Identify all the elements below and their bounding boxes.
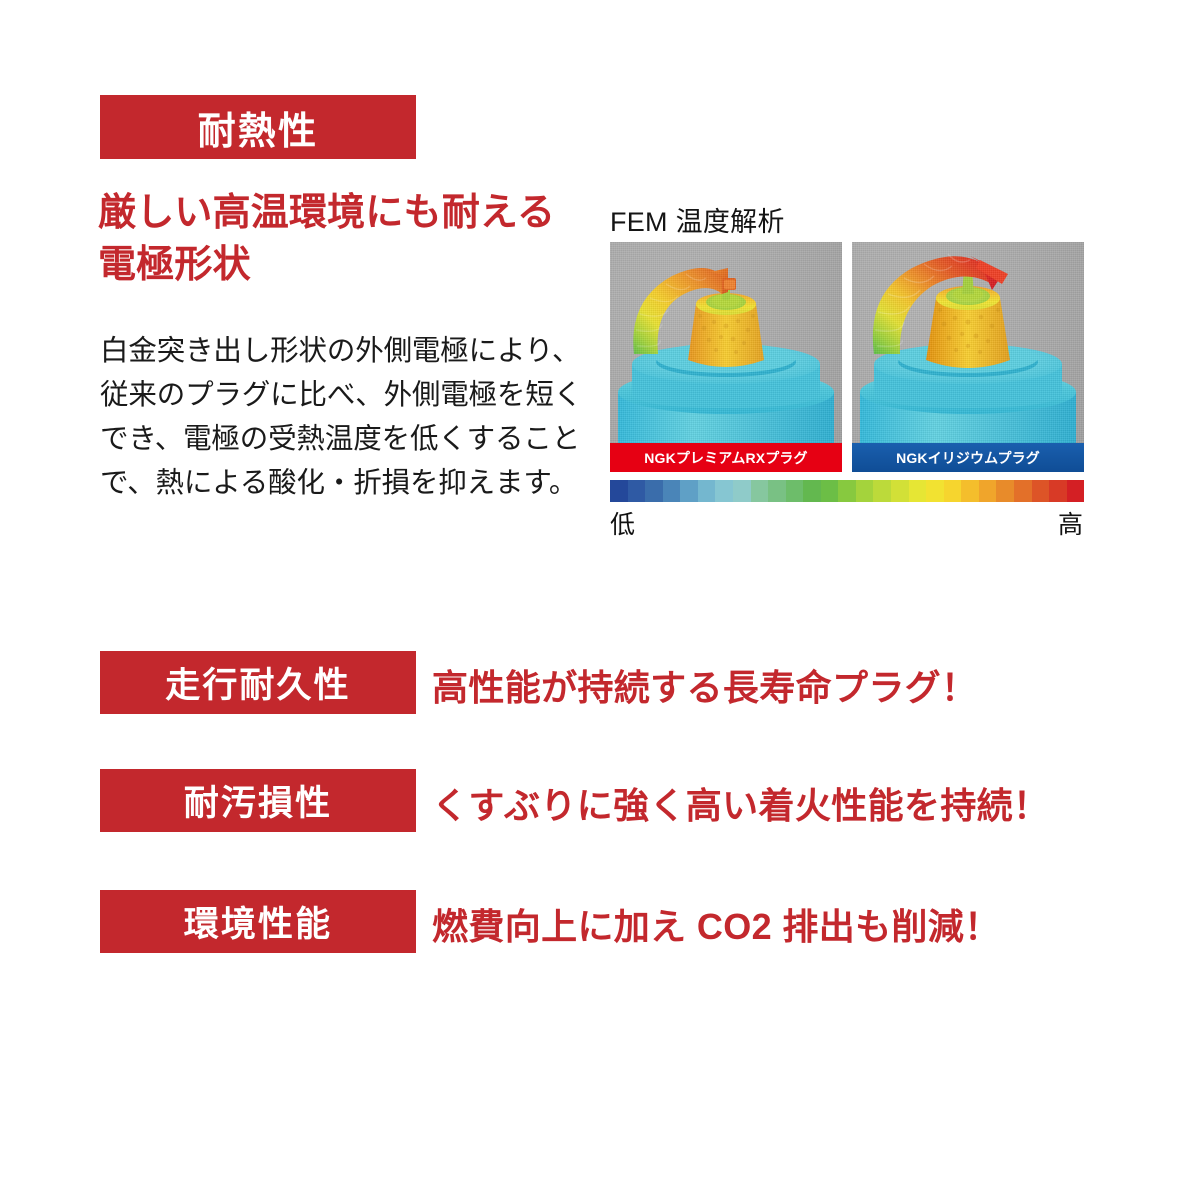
fem-scale-segment-7 — [733, 480, 751, 502]
fem-scale-segment-16 — [891, 480, 909, 502]
feature-caption-environmental: 燃費向上に加え CO2 排出も削減！ — [432, 898, 1001, 950]
fem-scale-segment-24 — [1032, 480, 1050, 502]
feature-tag-fouling-resistance: 耐汚損性 — [100, 769, 416, 832]
heat-subheading-line-2: 電極形状 — [98, 239, 568, 291]
feature-tag-environmental-label: 環境性能 — [184, 896, 332, 947]
fem-color-scale — [610, 480, 1084, 502]
heat-subheading: 厳しい高温環境にも耐える 電極形状 — [98, 187, 568, 292]
fem-figure: NGKプレミアムRXプラグ — [610, 242, 1084, 472]
fem-scale-segment-17 — [909, 480, 927, 502]
heat-body-line-4: で、熱による酸化・折損を抑えます。 — [100, 462, 580, 506]
heat-body-line-2: 従来のプラグに比べ、外側電極を短く — [100, 374, 580, 418]
fem-scale-segment-6 — [715, 480, 733, 502]
fem-scale-segment-26 — [1067, 480, 1085, 502]
section-tag-heat-resistance: 耐熱性 — [100, 95, 416, 159]
fem-scale-segment-1 — [628, 480, 646, 502]
fem-scale-segment-3 — [663, 480, 681, 502]
fem-scale-low-label: 低 — [610, 505, 635, 541]
feature-tag-fouling-resistance-label: 耐汚損性 — [184, 775, 332, 826]
fem-scale-segment-11 — [803, 480, 821, 502]
fem-scale-segment-14 — [856, 480, 874, 502]
fem-scale-segment-20 — [961, 480, 979, 502]
feature-tag-environmental: 環境性能 — [100, 890, 416, 953]
fem-scale-segment-22 — [996, 480, 1014, 502]
fem-panel-iridium: NGKイリジウムプラグ — [852, 242, 1084, 472]
fem-scale-segment-23 — [1014, 480, 1032, 502]
fem-scale-segment-8 — [751, 480, 769, 502]
fem-scale-segment-10 — [786, 480, 804, 502]
heat-body-line-3: でき、電極の受熱温度を低くすること — [100, 418, 580, 462]
fem-panel-premium-rx: NGKプレミアムRXプラグ — [610, 242, 842, 472]
fem-scale-segment-18 — [926, 480, 944, 502]
heat-subheading-line-1: 厳しい高温環境にも耐える — [98, 187, 568, 239]
heat-body-line-1: 白金突き出し形状の外側電極により、 — [100, 330, 580, 374]
section-tag-heat-resistance-label: 耐熱性 — [198, 100, 319, 155]
heat-body-copy: 白金突き出し形状の外側電極により、 従来のプラグに比べ、外側電極を短く でき、電… — [100, 330, 580, 506]
infographic-page: 耐熱性 厳しい高温環境にも耐える 電極形状 白金突き出し形状の外側電極により、 … — [0, 0, 1200, 1200]
fem-scale-segment-9 — [768, 480, 786, 502]
feature-tag-durability: 走行耐久性 — [100, 651, 416, 714]
fem-figure-title: FEM 温度解析 — [610, 200, 785, 239]
fem-scale-segment-0 — [610, 480, 628, 502]
feature-caption-fouling-resistance: くすぶりに強く高い着火性能を持続！ — [432, 777, 1049, 829]
feature-caption-durability: 高性能が持続する長寿命プラグ！ — [432, 659, 977, 711]
fem-scale-segment-15 — [873, 480, 891, 502]
fem-plug-render-rx — [610, 242, 842, 472]
fem-panel-label-premium-rx: NGKプレミアムRXプラグ — [610, 443, 842, 472]
fem-scale-segment-12 — [821, 480, 839, 502]
fem-scale-segment-13 — [838, 480, 856, 502]
fem-scale-segment-19 — [944, 480, 962, 502]
fem-scale-segment-4 — [680, 480, 698, 502]
fem-scale-high-label: 高 — [1058, 505, 1083, 541]
fem-scale-segment-25 — [1049, 480, 1067, 502]
feature-tag-durability-label: 走行耐久性 — [165, 657, 351, 708]
fem-scale-segment-2 — [645, 480, 663, 502]
fem-scale-segment-21 — [979, 480, 997, 502]
fem-scale-segment-5 — [698, 480, 716, 502]
fem-plug-render-iridium — [852, 242, 1084, 472]
fem-panel-label-iridium: NGKイリジウムプラグ — [852, 443, 1084, 472]
